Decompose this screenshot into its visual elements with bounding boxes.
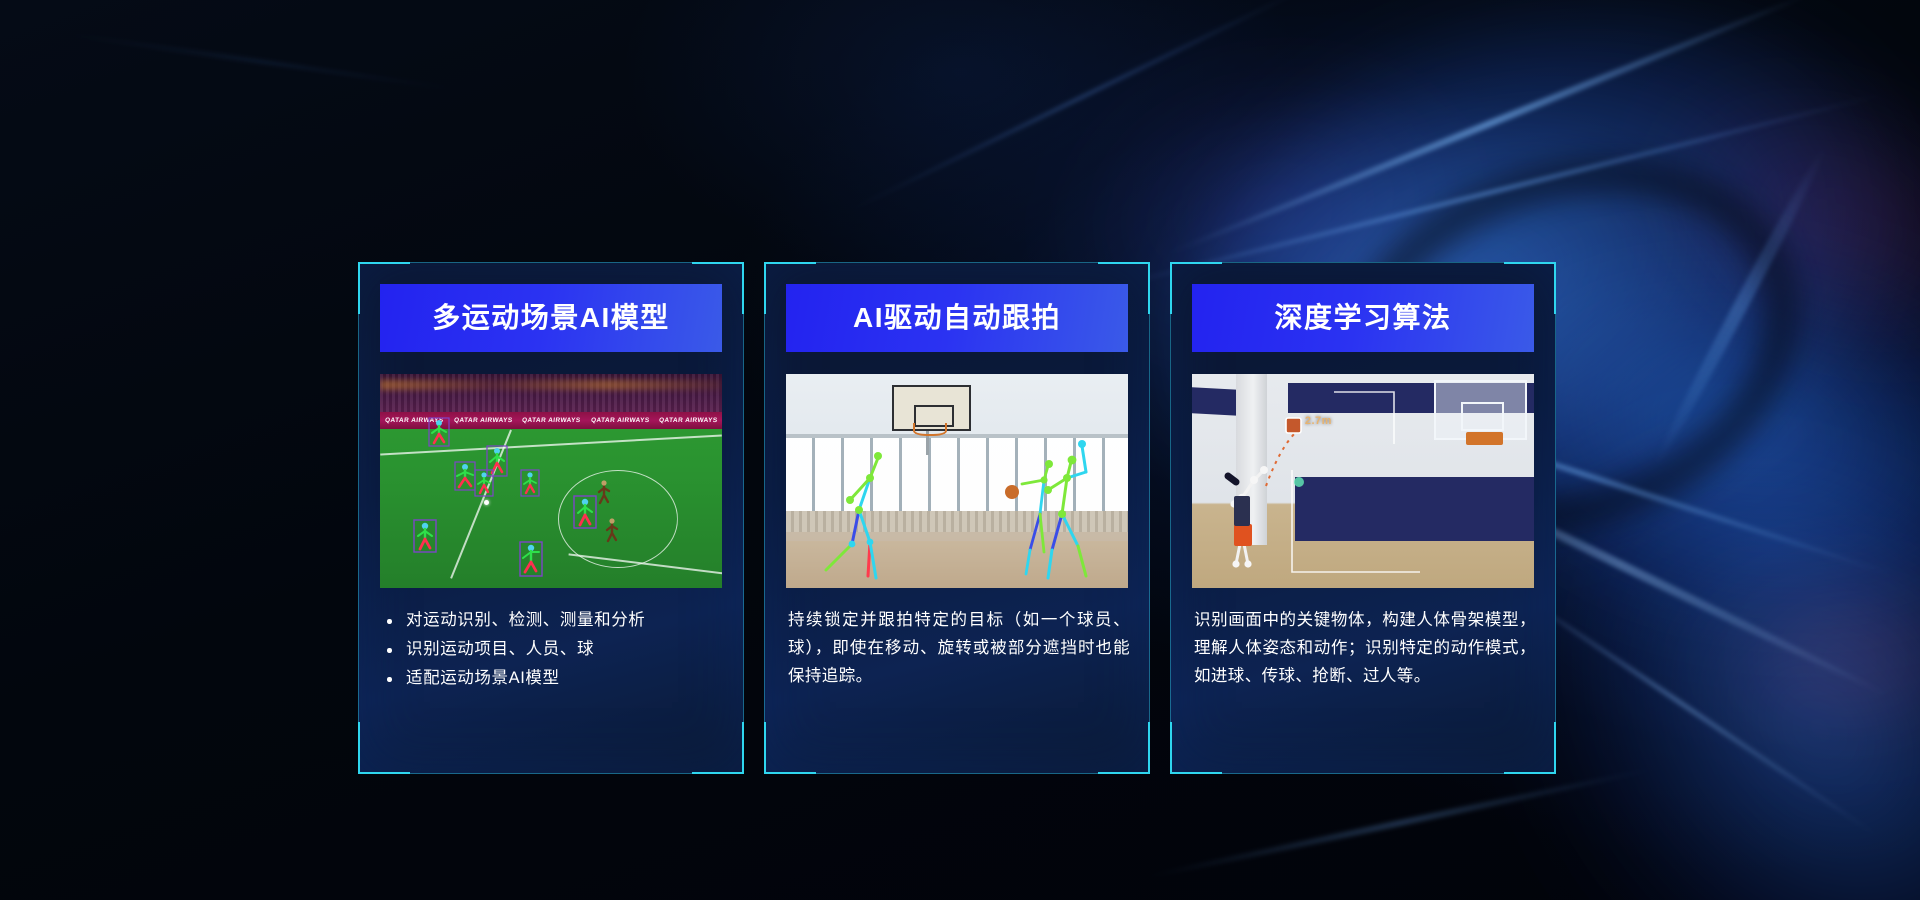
card-edge-bottom [1170, 773, 1556, 774]
card-media-gym-tracking [786, 374, 1128, 588]
feature-card-ai-auto-tracking-shot[interactable]: AI驱动自动跟拍 [764, 262, 1150, 774]
card-edge-right [743, 262, 744, 774]
list-item: 对运动识别、检测、测量和分析 [382, 606, 724, 635]
feature-description: 持续锁定并跟拍特定的目标（如一个球员、球），即使在移动、旋转或被部分遮挡时也能保… [788, 606, 1130, 690]
card-edge-right [1555, 262, 1556, 774]
card-media-football-detection: QATAR AIRWAYS QATAR AIRWAYS QATAR AIRWAY… [380, 374, 722, 588]
feature-card-deep-learning-algorithm[interactable]: 深度学习算法 [1170, 262, 1556, 774]
card-edge-right [1149, 262, 1150, 774]
card-edge-bottom [764, 773, 1150, 774]
feature-card-multi-sport-ai-model[interactable]: 多运动场景AI模型 QATAR AIRWAYS QATAR AIRWAYS QA… [358, 262, 744, 774]
feature-card-row: 多运动场景AI模型 QATAR AIRWAYS QATAR AIRWAYS QA… [0, 0, 1920, 900]
card-edge-top [764, 262, 1150, 263]
keypoint-marker [1294, 477, 1304, 487]
card-header-bar: 深度学习算法 [1192, 284, 1534, 352]
card-body: 识别画面中的关键物体，构建人体骨架模型，理解人体姿态和动作；识别特定的动作模式，… [1194, 606, 1536, 690]
card-edge-top [358, 262, 744, 263]
list-item: 识别运动项目、人员、球 [382, 635, 724, 664]
gym-frame [786, 374, 1128, 588]
list-item: 适配运动场景AI模型 [382, 664, 724, 693]
football-pitch-frame: QATAR AIRWAYS QATAR AIRWAYS QATAR AIRWAY… [380, 374, 722, 588]
card-edge-top [1170, 262, 1556, 263]
ball-bounding-box [1286, 418, 1301, 433]
card-edge-left [764, 262, 765, 774]
distance-label: 2.7m [1305, 415, 1332, 427]
card-title: 深度学习算法 [1274, 304, 1451, 332]
card-header-bar: 多运动场景AI模型 [380, 284, 722, 352]
card-edge-bottom [358, 773, 744, 774]
pose-skeleton-overlay-icon [380, 374, 722, 588]
card-media-shot-analysis: 2.7m [1192, 374, 1534, 588]
card-body: 对运动识别、检测、测量和分析 识别运动项目、人员、球 适配运动场景AI模型 [382, 606, 724, 693]
trajectory-overlay-icon [1192, 374, 1534, 588]
court-frame: 2.7m [1192, 374, 1534, 588]
feature-description: 识别画面中的关键物体，构建人体骨架模型，理解人体姿态和动作；识别特定的动作模式，… [1194, 606, 1536, 690]
pose-skeleton-overlay-icon [786, 374, 1128, 588]
card-edge-left [358, 262, 359, 774]
card-title: AI驱动自动跟拍 [853, 304, 1061, 332]
card-body: 持续锁定并跟拍特定的目标（如一个球员、球），即使在移动、旋转或被部分遮挡时也能保… [788, 606, 1130, 690]
card-title: 多运动场景AI模型 [432, 304, 670, 332]
card-edge-left [1170, 262, 1171, 774]
feature-bullet-list: 对运动识别、检测、测量和分析 识别运动项目、人员、球 适配运动场景AI模型 [382, 606, 724, 693]
card-header-bar: AI驱动自动跟拍 [786, 284, 1128, 352]
